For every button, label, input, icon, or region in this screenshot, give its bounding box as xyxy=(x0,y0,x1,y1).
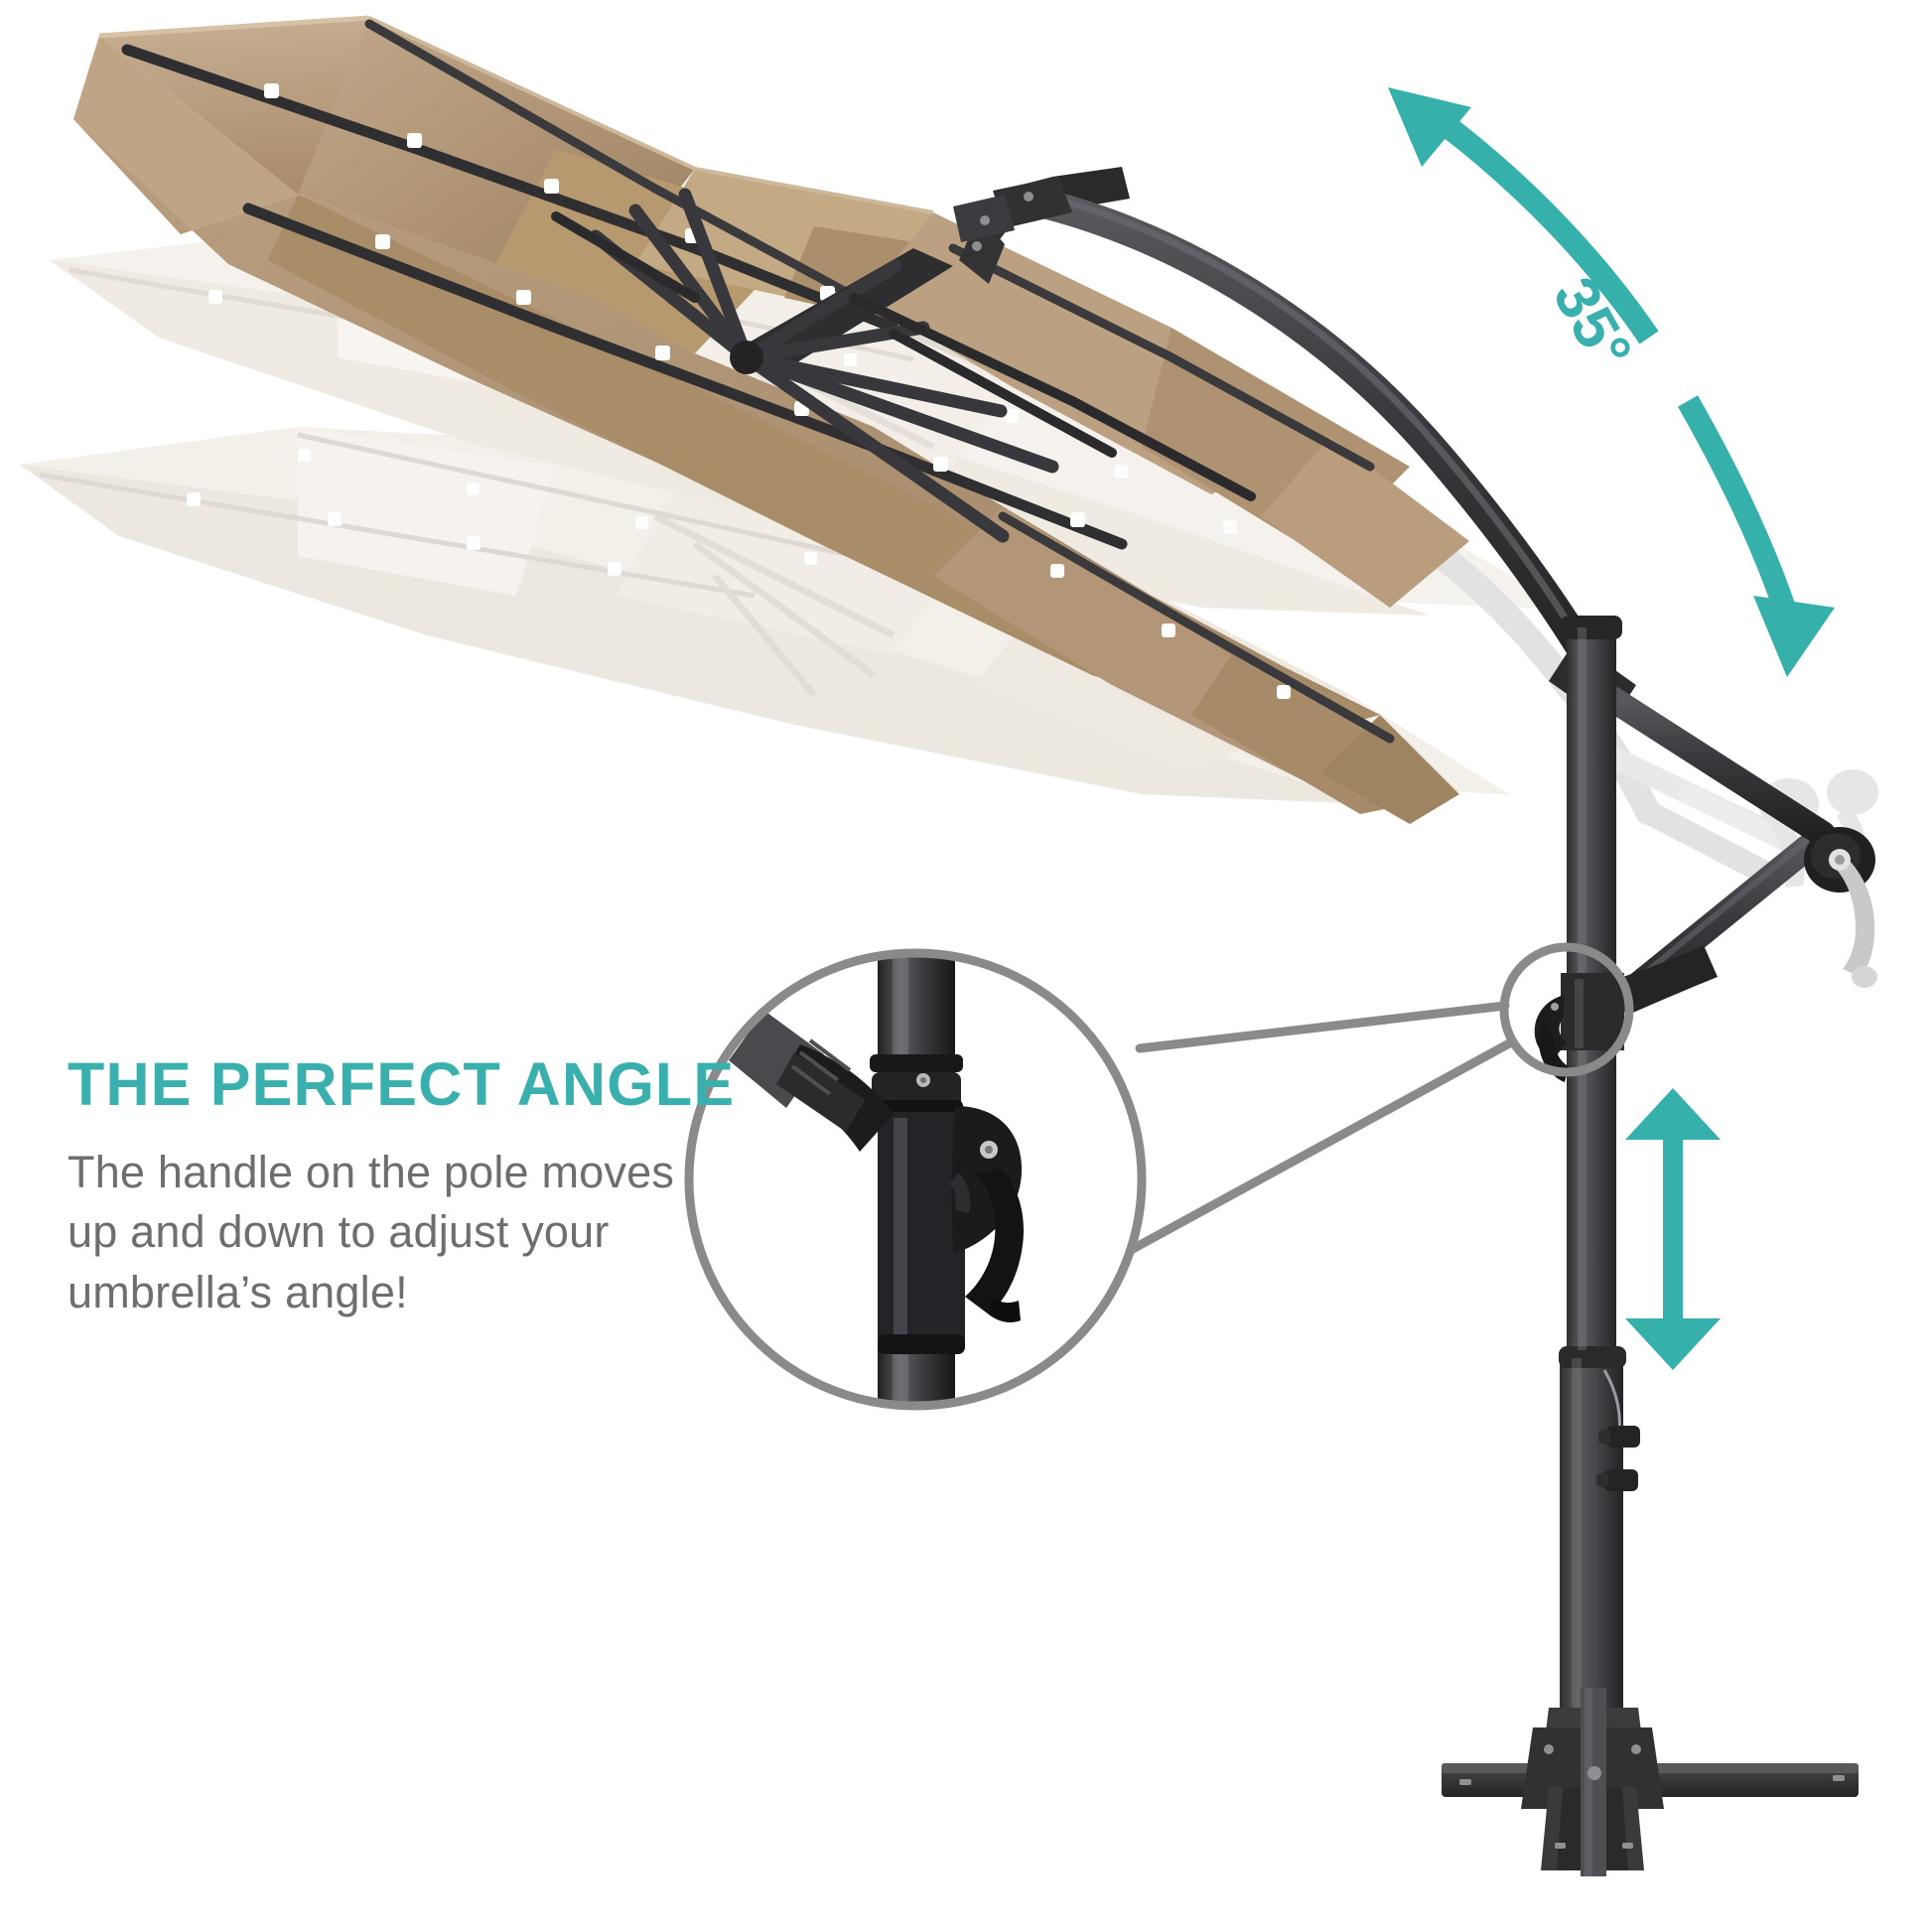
arrowhead-down xyxy=(1753,596,1835,677)
arrowhead-top xyxy=(1625,1088,1721,1140)
page-title: THE PERFECT ANGLE xyxy=(68,1054,901,1115)
arrowhead-bottom xyxy=(1625,1318,1721,1370)
callout-text-block: THE PERFECT ANGLE The handle on the pole… xyxy=(68,1054,901,1322)
infographic-canvas: 35° THE PERFECT ANGLE The handle on the … xyxy=(0,0,1932,1932)
cross-base xyxy=(1442,1688,1859,1876)
vertical-double-arrow xyxy=(1625,1088,1721,1370)
callout-body-line-1: The handle on the pole moves xyxy=(68,1147,674,1197)
callout-body: The handle on the pole moves up and down… xyxy=(68,1143,901,1322)
arm-canopy-bracket xyxy=(953,177,1072,242)
callout-body-line-3: umbrella’s angle! xyxy=(68,1267,408,1317)
callout-body-line-2: up and down to adjust your xyxy=(68,1206,610,1257)
product-illustration xyxy=(0,0,1932,1932)
